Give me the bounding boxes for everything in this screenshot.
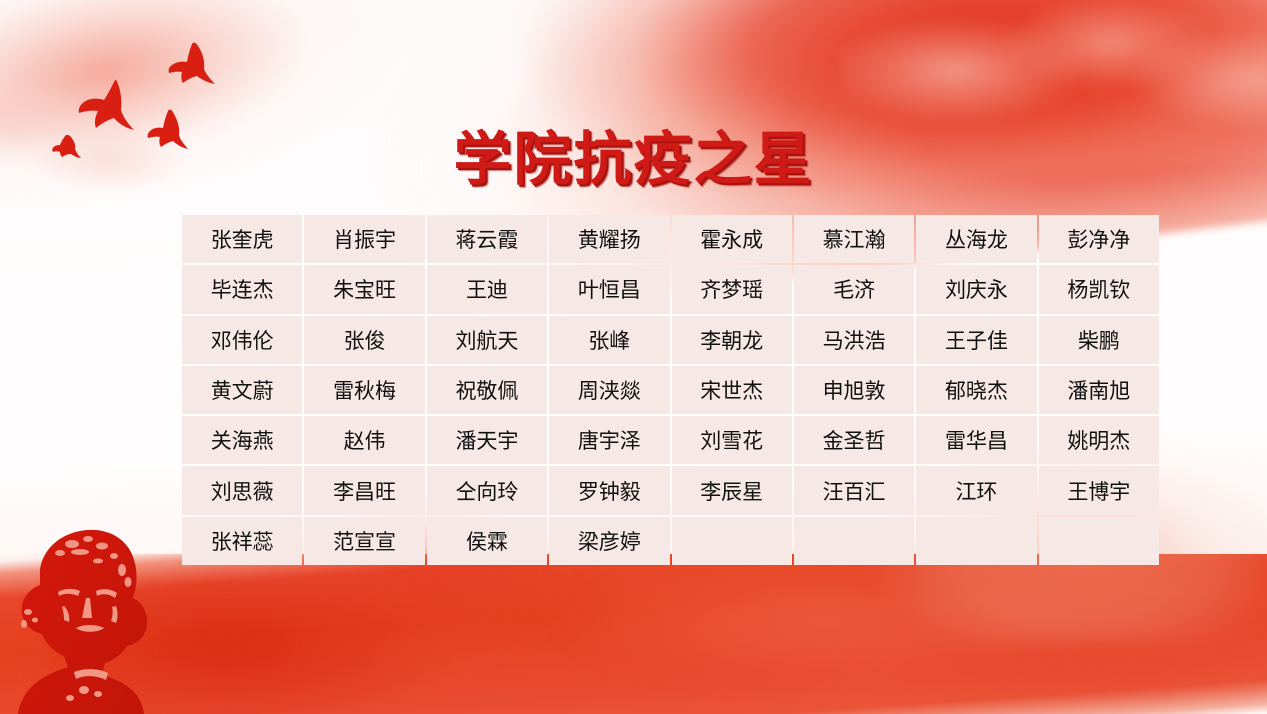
name-cell: 张俊 xyxy=(304,316,424,364)
lei-feng-portrait-icon xyxy=(2,520,197,714)
name-cell: 周浃燚 xyxy=(549,366,669,414)
name-cell: 刘庆永 xyxy=(916,265,1036,313)
name-cell-empty xyxy=(672,517,792,565)
name-cell: 潘天宇 xyxy=(427,416,547,464)
table-row: 关海燕赵伟潘天宇唐宇泽刘雪花金圣哲雷华昌姚明杰 xyxy=(182,416,1159,464)
name-cell: 朱宝旺 xyxy=(304,265,424,313)
name-cell: 祝敬佩 xyxy=(427,366,547,414)
name-cell: 张祥蕊 xyxy=(182,517,302,565)
name-cell: 张峰 xyxy=(549,316,669,364)
names-table-body: 张奎虎肖振宇蒋云霞黄耀扬霍永成慕江瀚丛海龙彭净净毕连杰朱宝旺王迪叶恒昌齐梦瑶毛济… xyxy=(182,215,1159,565)
name-cell: 刘思薇 xyxy=(182,466,302,514)
table-row: 张祥蕊范宣宣侯霖梁彦婷 xyxy=(182,517,1159,565)
name-cell: 王博宇 xyxy=(1039,466,1159,514)
name-cell: 肖振宇 xyxy=(304,215,424,263)
name-cell: 邓伟伦 xyxy=(182,316,302,364)
table-row: 张奎虎肖振宇蒋云霞黄耀扬霍永成慕江瀚丛海龙彭净净 xyxy=(182,215,1159,263)
name-cell: 赵伟 xyxy=(304,416,424,464)
page-title: 学院抗疫之星 xyxy=(0,112,1267,196)
name-cell: 杨凯钦 xyxy=(1039,265,1159,313)
name-cell: 潘南旭 xyxy=(1039,366,1159,414)
name-cell: 汪百汇 xyxy=(794,466,914,514)
name-cell: 申旭敦 xyxy=(794,366,914,414)
name-cell: 李辰星 xyxy=(672,466,792,514)
name-cell: 王子佳 xyxy=(916,316,1036,364)
name-cell: 慕江瀚 xyxy=(794,215,914,263)
name-cell: 刘雪花 xyxy=(672,416,792,464)
table-row: 刘思薇李昌旺仝向玲罗钟毅李辰星汪百汇江环王博宇 xyxy=(182,466,1159,514)
names-table: 张奎虎肖振宇蒋云霞黄耀扬霍永成慕江瀚丛海龙彭净净毕连杰朱宝旺王迪叶恒昌齐梦瑶毛济… xyxy=(180,213,1161,567)
table-row: 毕连杰朱宝旺王迪叶恒昌齐梦瑶毛济刘庆永杨凯钦 xyxy=(182,265,1159,313)
name-cell: 霍永成 xyxy=(672,215,792,263)
name-cell-empty xyxy=(794,517,914,565)
name-cell-empty xyxy=(1039,517,1159,565)
name-cell: 蒋云霞 xyxy=(427,215,547,263)
name-cell: 金圣哲 xyxy=(794,416,914,464)
name-cell-empty xyxy=(916,517,1036,565)
name-cell: 仝向玲 xyxy=(427,466,547,514)
name-cell: 郁晓杰 xyxy=(916,366,1036,414)
slide-canvas: 学院抗疫之星 张奎虎肖振宇蒋云霞黄耀扬霍永成慕江瀚丛海龙彭净净毕连杰朱宝旺王迪叶… xyxy=(0,0,1267,714)
table-row: 黄文蔚雷秋梅祝敬佩周浃燚宋世杰申旭敦郁晓杰潘南旭 xyxy=(182,366,1159,414)
name-cell: 王迪 xyxy=(427,265,547,313)
table-row: 邓伟伦张俊刘航天张峰李朝龙马洪浩王子佳柴鹏 xyxy=(182,316,1159,364)
name-cell: 李朝龙 xyxy=(672,316,792,364)
name-cell: 范宣宣 xyxy=(304,517,424,565)
name-cell: 侯霖 xyxy=(427,517,547,565)
name-cell: 唐宇泽 xyxy=(549,416,669,464)
name-cell: 毕连杰 xyxy=(182,265,302,313)
name-cell: 彭净净 xyxy=(1039,215,1159,263)
name-cell: 柴鹏 xyxy=(1039,316,1159,364)
name-cell: 叶恒昌 xyxy=(549,265,669,313)
name-cell: 齐梦瑶 xyxy=(672,265,792,313)
name-cell: 毛济 xyxy=(794,265,914,313)
name-cell: 江环 xyxy=(916,466,1036,514)
name-cell: 雷华昌 xyxy=(916,416,1036,464)
name-cell: 李昌旺 xyxy=(304,466,424,514)
name-cell: 姚明杰 xyxy=(1039,416,1159,464)
name-cell: 刘航天 xyxy=(427,316,547,364)
name-cell: 雷秋梅 xyxy=(304,366,424,414)
name-cell: 马洪浩 xyxy=(794,316,914,364)
name-cell: 丛海龙 xyxy=(916,215,1036,263)
name-cell: 罗钟毅 xyxy=(549,466,669,514)
name-cell: 黄文蔚 xyxy=(182,366,302,414)
name-cell: 张奎虎 xyxy=(182,215,302,263)
name-cell: 黄耀扬 xyxy=(549,215,669,263)
name-cell: 梁彦婷 xyxy=(549,517,669,565)
name-cell: 关海燕 xyxy=(182,416,302,464)
name-cell: 宋世杰 xyxy=(672,366,792,414)
